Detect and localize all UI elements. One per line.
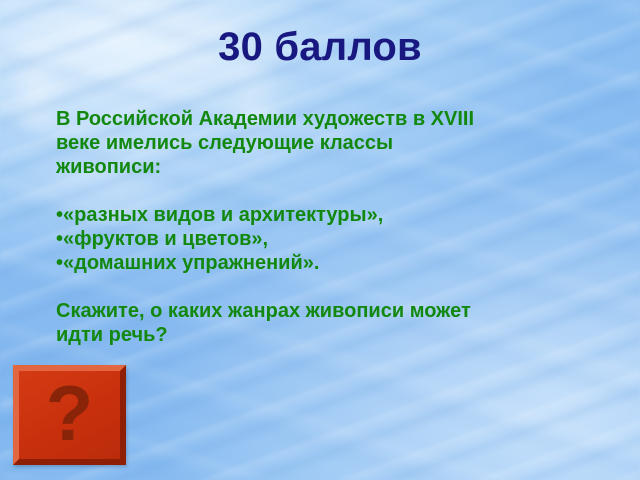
bullet-icon: • <box>56 251 63 275</box>
body-spacer-top <box>56 179 584 203</box>
intro-line-3: живописи: <box>56 155 584 179</box>
list-item-label: «разных видов и архитектуры», <box>63 204 383 226</box>
list-item-label: «фруктов и цветов», <box>63 228 268 250</box>
class-list: •«разных видов и архитектуры», •«фруктов… <box>56 203 584 275</box>
hint-button[interactable]: ? <box>13 365 126 465</box>
bullet-icon: • <box>56 203 63 227</box>
list-item: •«домашних упражнений». <box>56 251 584 275</box>
body-spacer-bottom <box>56 275 584 299</box>
intro-line-1: В Российской Академии художеств в XVIII <box>56 107 584 131</box>
list-item: •«разных видов и архитектуры», <box>56 203 584 227</box>
list-item: •«фруктов и цветов», <box>56 227 584 251</box>
question-line-1: Скажите, о каких жанрах живописи может <box>56 299 584 323</box>
page-title: 30 баллов <box>0 23 640 71</box>
hint-button-face: ? <box>19 371 120 459</box>
bullet-icon: • <box>56 227 63 251</box>
question-body: В Российской Академии художеств в XVIII … <box>56 107 584 347</box>
quiz-slide: 30 баллов В Российской Академии художест… <box>0 0 640 480</box>
list-item-label: «домашних упражнений». <box>63 252 319 274</box>
question-mark-icon: ? <box>46 374 94 452</box>
intro-line-2: веке имелись следующие классы <box>56 131 584 155</box>
question-line-2: идти речь? <box>56 323 584 347</box>
